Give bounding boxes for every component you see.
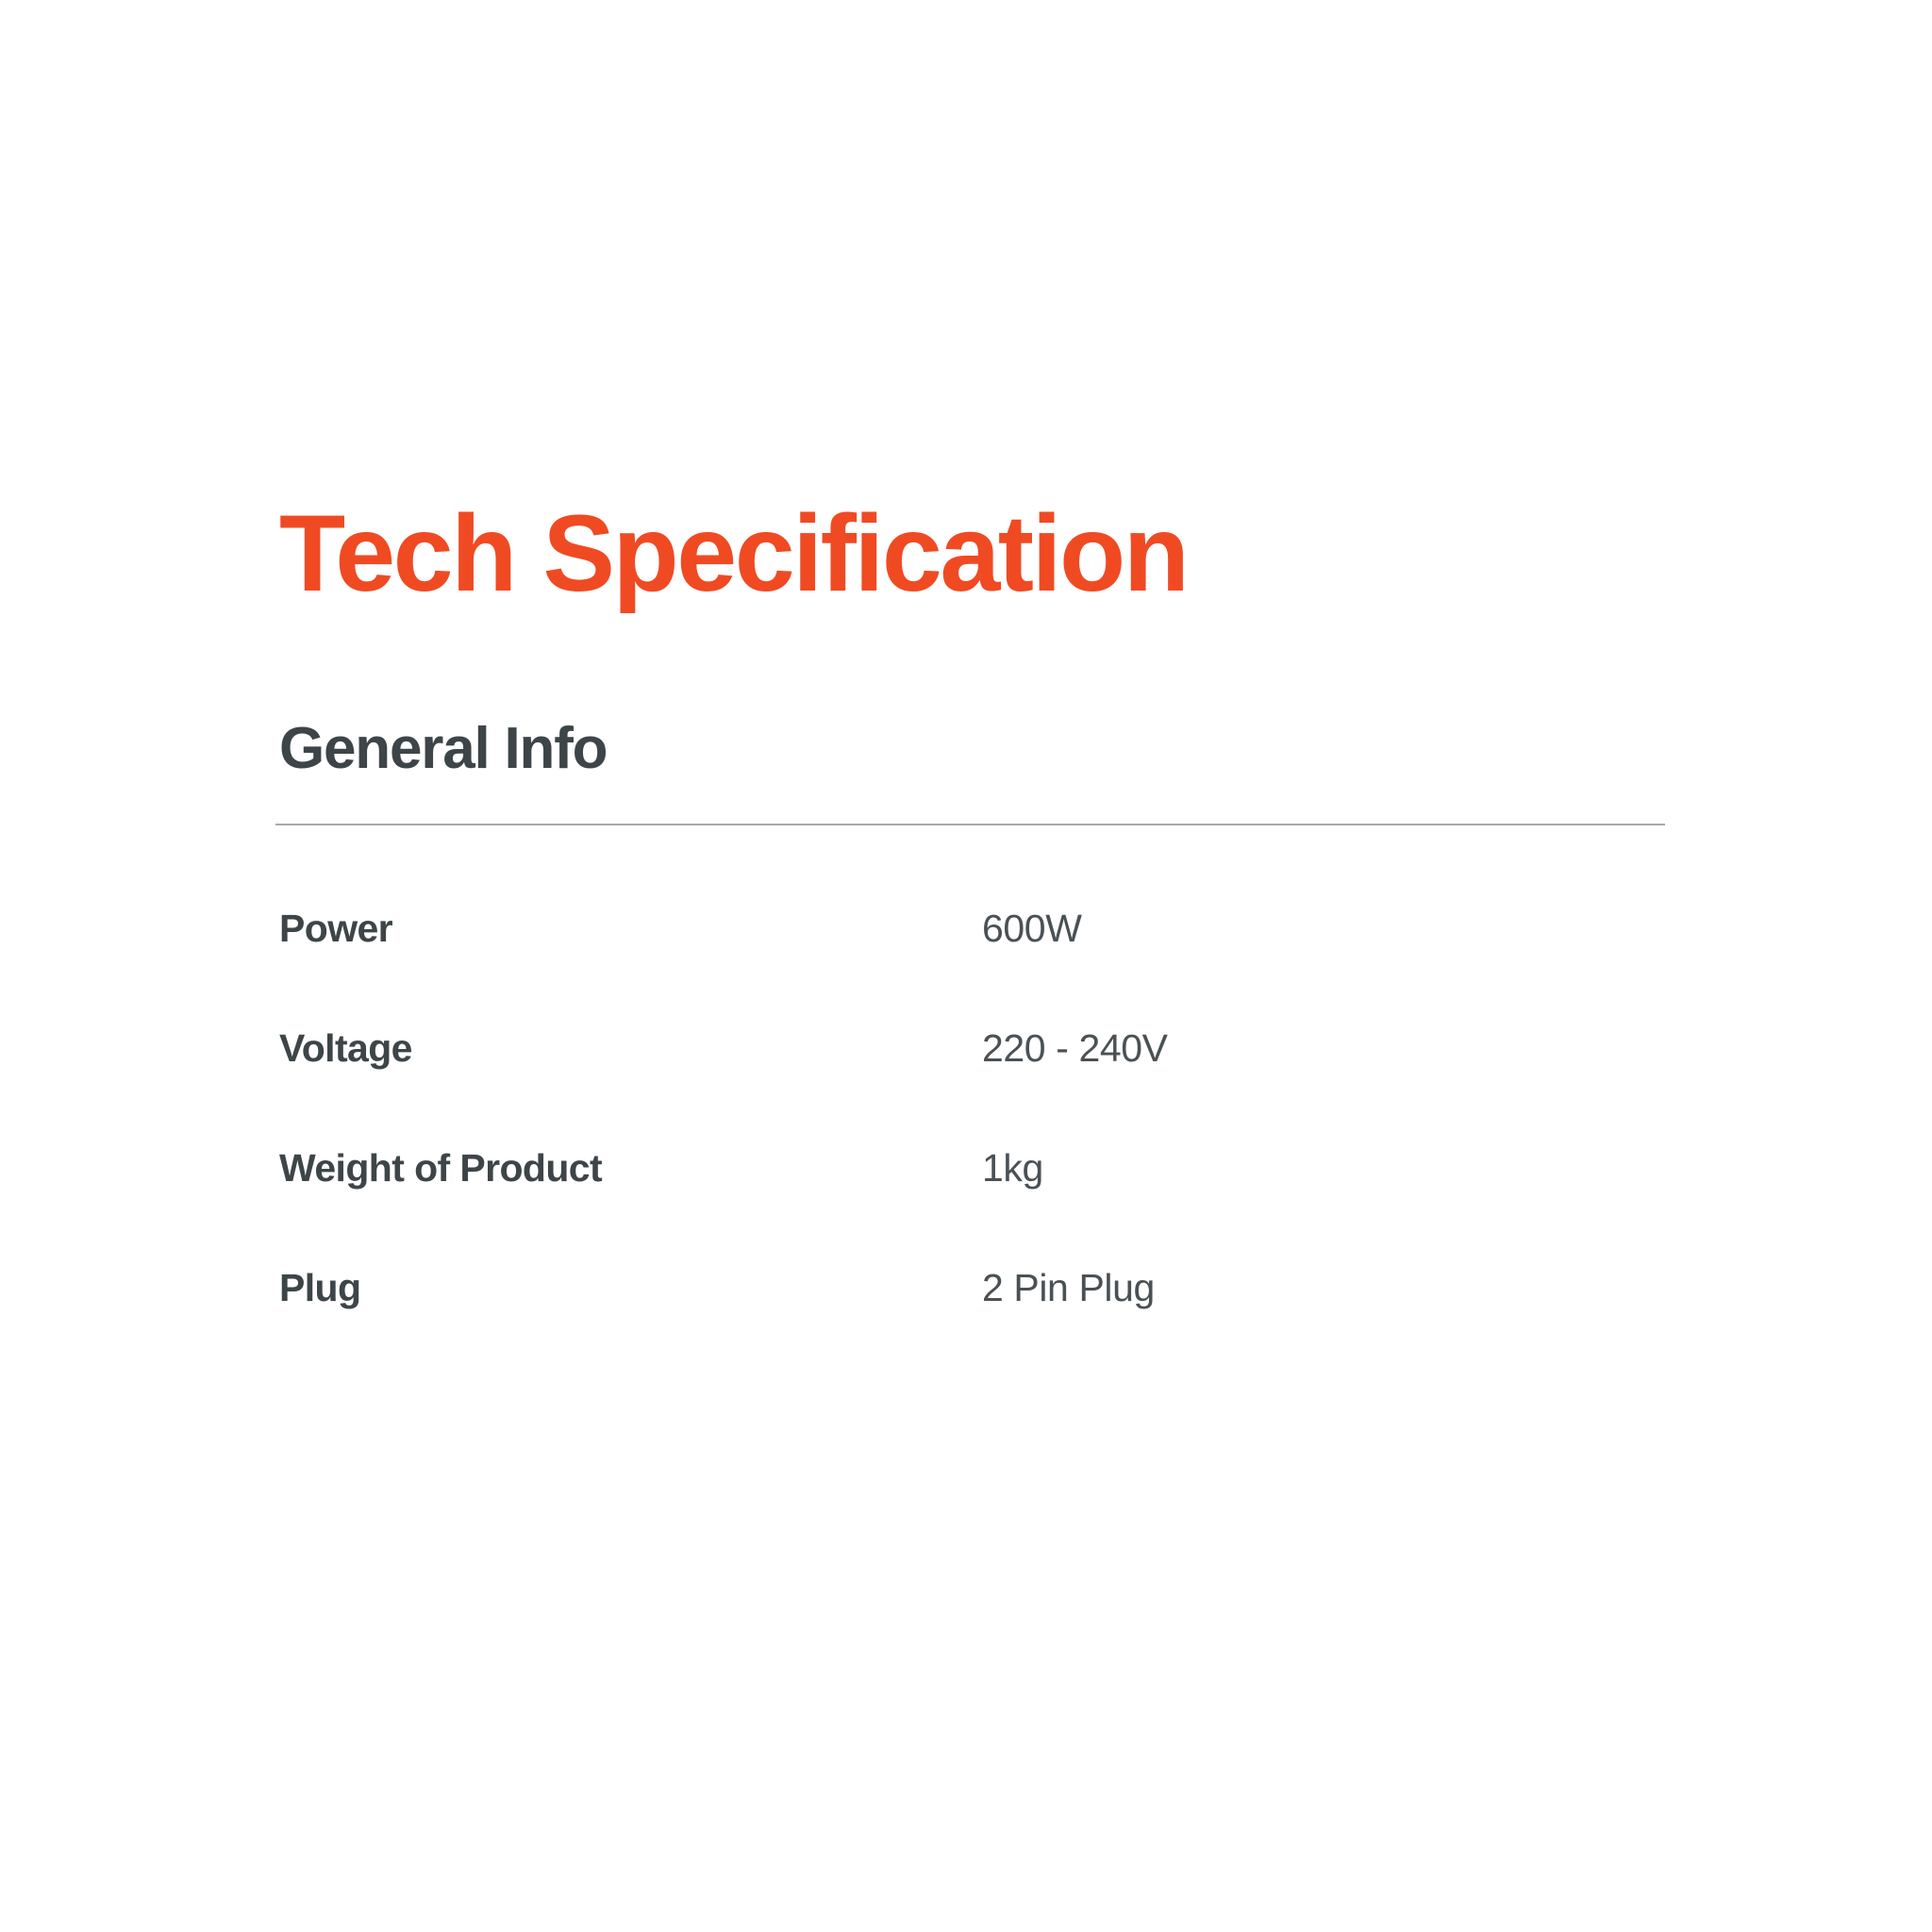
tech-specification-page: Tech Specification General Info Power 60…: [0, 0, 1932, 1932]
page-title: Tech Specification: [279, 500, 1672, 608]
spec-label-plug: Plug: [275, 1266, 982, 1386]
section-heading-general-info: General Info: [279, 720, 1672, 778]
spec-value-power: 600W: [982, 907, 1665, 1026]
spec-label-voltage: Voltage: [275, 1026, 982, 1146]
general-info-section: General Info Power 600W Voltage 220 - 24…: [275, 720, 1672, 1386]
spec-label-power: Power: [275, 907, 982, 1026]
spec-label-weight-of-product: Weight of Product: [275, 1146, 982, 1266]
table-row: Power 600W: [275, 907, 1665, 1026]
spec-table-body: Power 600W Voltage 220 - 240V Weight of …: [275, 907, 1665, 1386]
spec-value-voltage: 220 - 240V: [982, 1026, 1665, 1146]
table-row: Voltage 220 - 240V: [275, 1026, 1665, 1146]
spec-table: Power 600W Voltage 220 - 240V Weight of …: [275, 907, 1665, 1386]
table-row: Weight of Product 1kg: [275, 1146, 1665, 1266]
content-container: Tech Specification General Info Power 60…: [275, 500, 1672, 1386]
spec-value-weight-of-product: 1kg: [982, 1146, 1665, 1266]
section-divider: [275, 824, 1665, 825]
table-row: Plug 2 Pin Plug: [275, 1266, 1665, 1386]
spec-value-plug: 2 Pin Plug: [982, 1266, 1665, 1386]
